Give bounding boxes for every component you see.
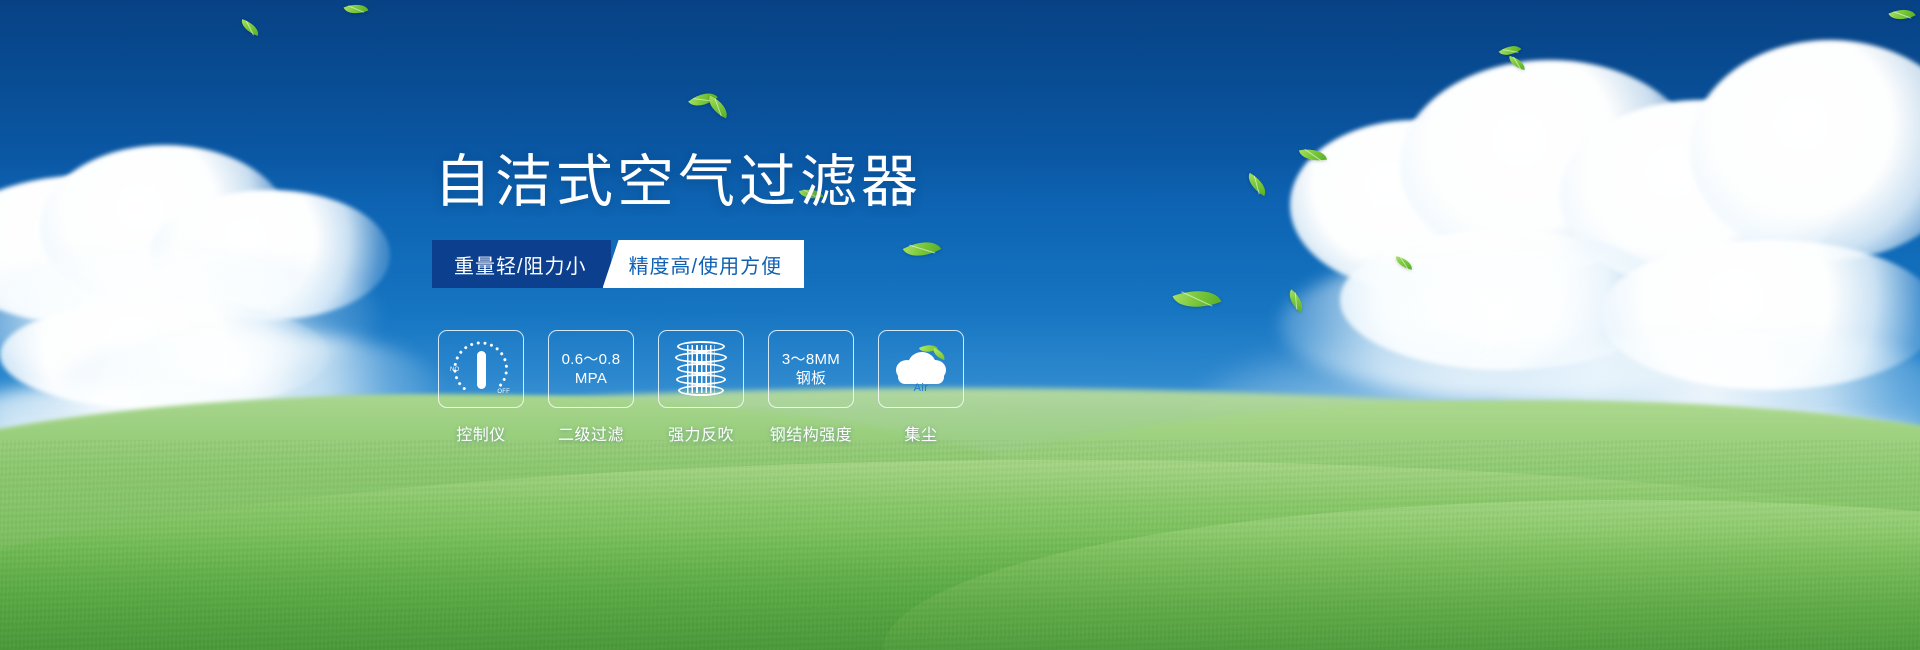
feature-item[interactable]: 3～8MM 钢板 钢结构强度	[768, 330, 854, 445]
feature-list: NO OFF 控制仪 0.6～0.8 MPA 二级过滤	[438, 330, 964, 445]
feature-box	[658, 330, 744, 408]
dial-label-off: OFF	[497, 389, 510, 395]
feature-box-text-line1: 3～8MM	[782, 350, 840, 369]
feature-box: NO OFF	[438, 330, 524, 408]
cartridge-icon	[675, 339, 727, 399]
dial-icon: NO OFF	[450, 339, 512, 399]
feature-item[interactable]: NO OFF 控制仪	[438, 330, 524, 445]
tagline-tabs: 重量轻/阻力小 精度高/使用方便	[432, 240, 804, 288]
feature-item[interactable]: 强力反吹	[658, 330, 744, 445]
feature-box: 0.6～0.8 MPA	[548, 330, 634, 408]
feature-box: Air	[878, 330, 964, 408]
feature-label: 二级过滤	[548, 421, 634, 445]
feature-label: 强力反吹	[658, 421, 744, 445]
dial-label-on: NO	[450, 367, 459, 373]
feature-label: 集尘	[878, 421, 964, 445]
tagline-tab-2[interactable]: 精度高/使用方便	[603, 240, 805, 288]
feature-label: 钢结构强度	[768, 421, 854, 445]
feature-box-text-line2: MPA	[575, 369, 607, 388]
feature-box-text-line1: 0.6～0.8	[562, 350, 621, 369]
page-title: 自洁式空气过滤器	[434, 136, 922, 218]
tagline-tab-1[interactable]: 重量轻/阻力小	[432, 240, 611, 288]
feature-box-text-line2: 钢板	[796, 369, 827, 388]
banner-content: 自洁式空气过滤器 重量轻/阻力小 精度高/使用方便	[0, 0, 1920, 650]
air-dust-icon: Air	[890, 342, 952, 396]
feature-label: 控制仪	[438, 421, 524, 445]
air-label: Air	[914, 382, 929, 394]
dial-needle	[477, 351, 486, 389]
feature-box: 3～8MM 钢板	[768, 330, 854, 408]
feature-item[interactable]: Air 集尘	[878, 330, 964, 445]
banner-hero: 自洁式空气过滤器 重量轻/阻力小 精度高/使用方便	[0, 0, 1920, 650]
feature-item[interactable]: 0.6～0.8 MPA 二级过滤	[548, 330, 634, 445]
